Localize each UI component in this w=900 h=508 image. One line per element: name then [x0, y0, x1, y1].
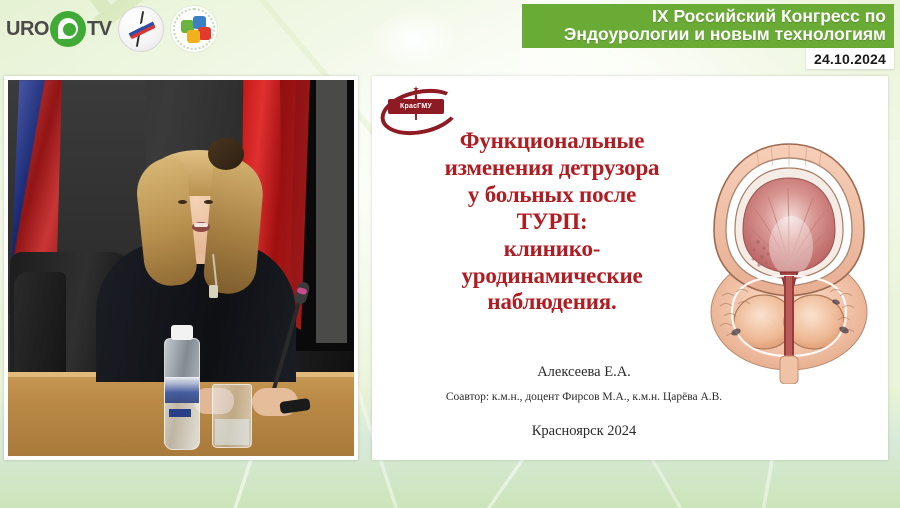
- urotv-logo: URO TV: [6, 11, 112, 47]
- city-year: Красноярск 2024: [394, 423, 774, 440]
- urotv-logo-text-right: TV: [87, 18, 112, 41]
- water-bottle: [164, 338, 200, 450]
- slide-title-line-5: клинико-: [412, 236, 692, 263]
- slide-title: Функциональные изменения детрузора у бол…: [412, 128, 692, 316]
- bottle-label-barcode: [169, 409, 191, 417]
- speaker-eye-left: [178, 200, 187, 204]
- congress-banner: IX Российский Конгресс по Эндоурологии и…: [522, 4, 894, 48]
- presentation-slide[interactable]: КрасГМУ Функциональные изменения детрузо…: [372, 76, 888, 460]
- puzzle-piece-yellow-icon: [187, 30, 200, 43]
- slide-title-line-1: Функциональные: [412, 128, 692, 155]
- slide-title-line-6: уродинамические: [412, 263, 692, 290]
- urotv-logo-text-left: URO: [6, 18, 49, 41]
- slide-title-line-4: ТУРП:: [412, 209, 692, 236]
- children-puzzle-logo: [170, 5, 218, 53]
- coauthors-line: Соавтор: к.м.н., доцент Фирсов М.А., к.м…: [394, 391, 774, 403]
- date-badge: 24.10.2024: [806, 48, 894, 69]
- drinking-glass: [212, 384, 252, 448]
- krasgmu-logo-band: КрасГМУ: [388, 99, 444, 114]
- chair-back: [14, 272, 66, 382]
- date-badge-text: 24.10.2024: [814, 51, 886, 67]
- slide-title-line-7: наблюдения.: [412, 289, 692, 316]
- speaker-video-content[interactable]: [8, 80, 354, 456]
- presentation-stage: URO TV IX Российский Конгресс по Эндоуро…: [0, 0, 900, 508]
- slide-title-line-2: изменения детрузора: [412, 155, 692, 182]
- bottle-label: [165, 377, 199, 403]
- header-logo-row: URO TV: [0, 0, 218, 58]
- urotv-logo-mark-icon: [50, 11, 86, 47]
- russian-society-logo: [118, 6, 164, 52]
- speaker-mouth: [192, 222, 210, 232]
- congress-banner-line2: Эндоурологии и новым технологиям: [564, 26, 886, 44]
- slide-title-line-3: у больных после: [412, 182, 692, 209]
- krasgmu-logo: КрасГМУ: [380, 86, 452, 132]
- krasgmu-logo-text: КрасГМУ: [388, 99, 444, 114]
- background-glow: [370, 10, 460, 70]
- speaker-hair-bun: [208, 138, 244, 170]
- necklace-pendant: [209, 285, 218, 298]
- speaker-eye-right: [204, 200, 213, 204]
- bladder-prostate-anatomy-illustration: [696, 126, 882, 384]
- video-door: [316, 80, 347, 343]
- bottle-cap: [171, 325, 193, 340]
- speaker-video-panel[interactable]: [4, 76, 358, 460]
